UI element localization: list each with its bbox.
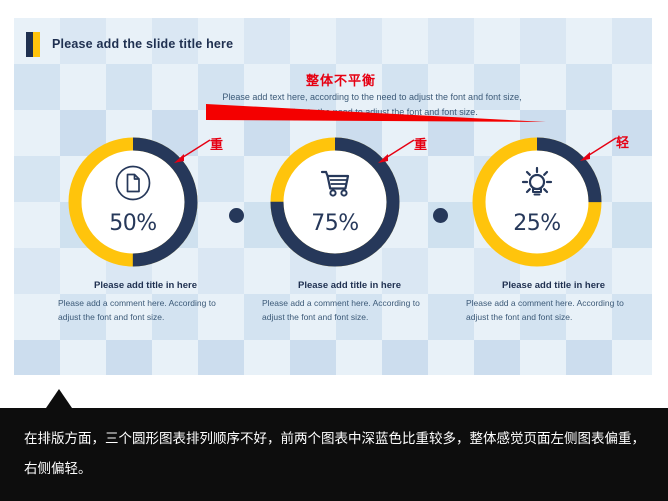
slide-title-block: Please add the slide title here	[26, 31, 233, 57]
title-accent-navy-bar	[26, 32, 33, 57]
callout-pointer-triangle	[46, 389, 72, 408]
red-arrow-1	[172, 138, 212, 164]
dot-separator-2	[433, 208, 448, 223]
title-accent-gold-bar	[33, 32, 40, 57]
percent-label-3: 25%	[472, 211, 602, 236]
caption-title-2: Please add title in here	[262, 280, 437, 291]
caption-1: Please add title in here Please add a co…	[58, 280, 233, 324]
percent-label-1: 50%	[68, 211, 198, 236]
caption-text-3: Please add a comment here. According to …	[466, 297, 641, 324]
caption-text-1: Please add a comment here. According to …	[58, 297, 233, 324]
critique-band: 在排版方面，三个圆形图表排列顺序不好，前两个图表中深蓝色比重较多，整体感觉页面左…	[0, 408, 668, 501]
caption-3: Please add title in here Please add a co…	[466, 280, 641, 324]
shopping-cart-icon	[270, 163, 400, 203]
red-wedge-highlight	[206, 104, 546, 126]
page-title: Please add the slide title here	[52, 37, 233, 51]
critique-text: 在排版方面，三个圆形图表排列顺序不好，前两个图表中深蓝色比重较多，整体感觉页面左…	[24, 424, 650, 484]
caption-title-3: Please add title in here	[466, 280, 641, 291]
red-arrow-3	[578, 136, 618, 162]
caption-2: Please add title in here Please add a co…	[262, 280, 437, 324]
annotation-heading: 整体不平衡	[306, 70, 376, 89]
caption-title-1: Please add title in here	[58, 280, 233, 291]
caption-text-2: Please add a comment here. According to …	[262, 297, 437, 324]
red-arrow-2	[376, 138, 416, 164]
document-icon	[68, 163, 198, 203]
dot-separator-1	[229, 208, 244, 223]
lightbulb-icon	[472, 163, 602, 205]
subtext-line-1: Please add text here, according to the n…	[172, 90, 572, 105]
percent-label-2: 75%	[270, 211, 400, 236]
slide-canvas: Please add the slide title here Please a…	[14, 18, 652, 375]
